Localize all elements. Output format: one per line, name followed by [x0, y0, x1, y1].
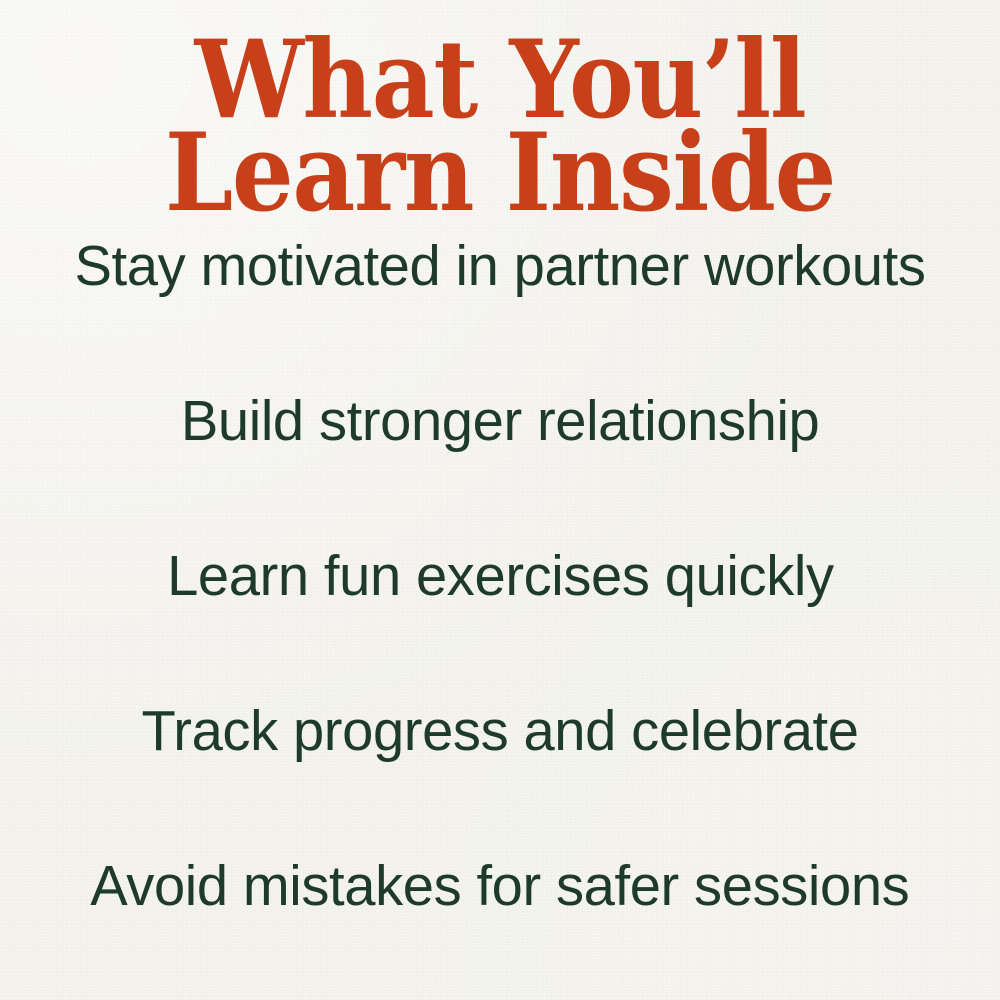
page-title: What You’ll Learn Inside — [0, 34, 1000, 220]
page-title-line-2: Learn Inside — [50, 127, 950, 220]
benefit-label-5: Avoid mistakes for safer sessions — [90, 858, 909, 915]
benefit-list-item-1: Stay motivated in partner workouts — [0, 238, 1000, 393]
benefit-label-2: Build stronger relationship — [181, 393, 820, 450]
poster-canvas: What You’ll Learn Inside Stay motivated … — [0, 0, 1000, 1000]
benefit-list-item-4: Track progress and celebrate — [0, 703, 1000, 858]
benefit-list-item-2: Build stronger relationship — [0, 393, 1000, 548]
benefit-label-1: Stay motivated in partner workouts — [74, 238, 925, 295]
benefit-list-item-5: Avoid mistakes for safer sessions — [0, 858, 1000, 1000]
benefit-list: Stay motivated in partner workouts Build… — [0, 238, 1000, 1000]
benefit-label-4: Track progress and celebrate — [141, 703, 858, 760]
benefit-list-item-3: Learn fun exercises quickly — [0, 548, 1000, 703]
benefit-label-3: Learn fun exercises quickly — [167, 548, 834, 605]
